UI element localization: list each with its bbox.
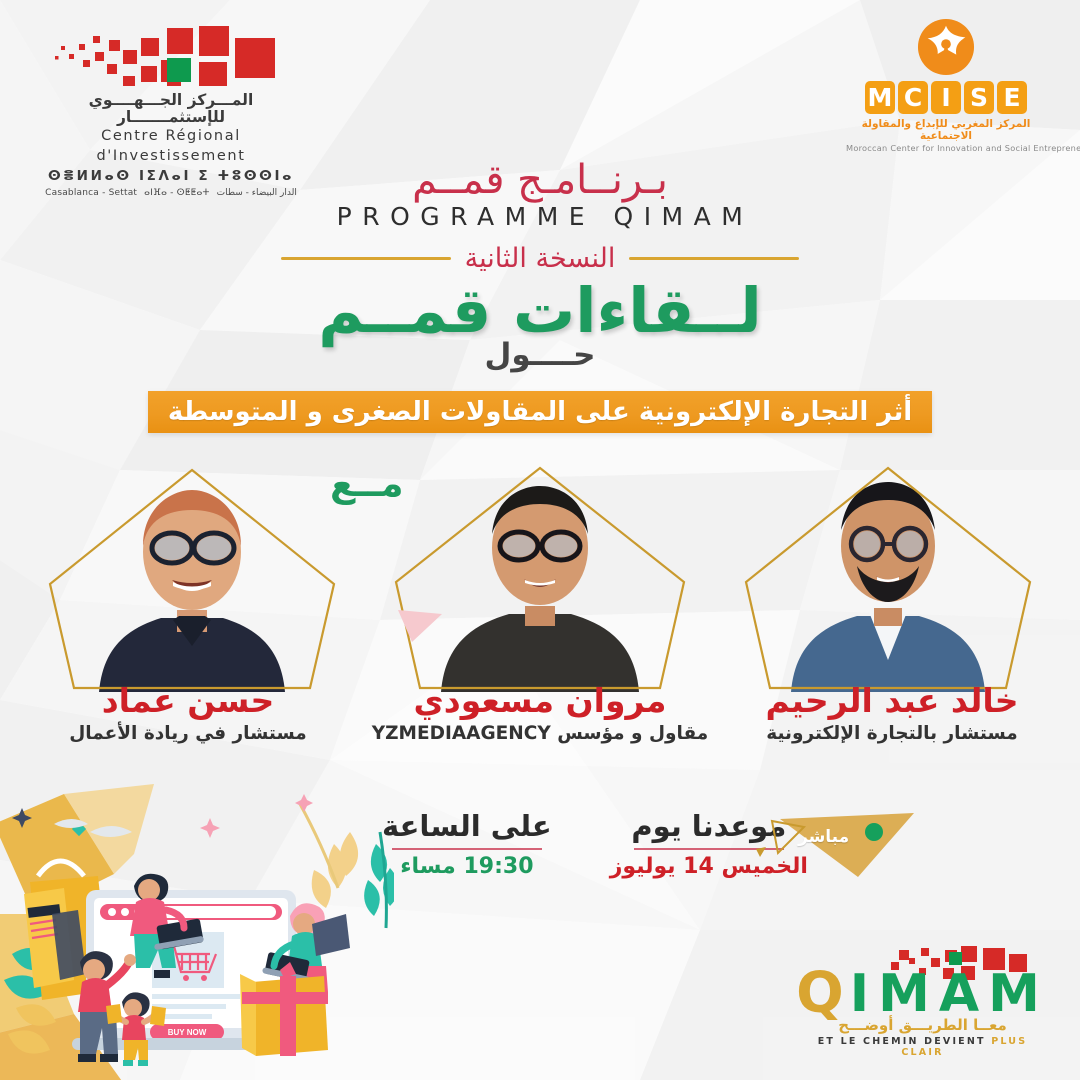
cri-pixel-squares-icon	[49, 24, 294, 86]
topic-banner: أثر التجارة الإلكترونية على المقاولات ال…	[148, 391, 932, 433]
mcise-arabic-tagline: المركز المغربي للإبداع والمقاولة الاجتما…	[846, 118, 1046, 142]
qimam-wordmark: Q IMAM	[795, 966, 1050, 1022]
cri-logo: المـــركز الجـــهــــوي للإستثمـــــــار…	[36, 24, 306, 198]
time-label: على الساعة	[382, 810, 552, 843]
qimam-french-main: ET LE CHEMIN DEVIENT	[818, 1036, 986, 1047]
qimam-letter-q: Q	[796, 966, 844, 1022]
speaker-card-1: حسن عماد مستشار في ريادة الأعمال	[18, 683, 358, 745]
edition-row: النسخة الثانية	[0, 245, 1080, 272]
cri-french-name: Centre Régional d'Investissement	[36, 127, 306, 166]
cri-region-line: Casablanca - Settat ⴰⵏⴼⴰ - ⵙⵟⵟⴰⵜ الدار ا…	[36, 188, 306, 198]
speaker-portrait-khalid	[773, 460, 1003, 692]
mcise-star-person-circle-icon	[917, 18, 975, 76]
mcise-letter-c: C	[898, 81, 928, 114]
speakers-photo-row	[0, 452, 1080, 692]
speaker-role-2: مقاول و مؤسس YZMEDIAAGENCY	[370, 723, 710, 745]
edition-rule-left	[281, 257, 451, 260]
mcise-logo: M C I S E المركز المغربي للإبداع والمقاو…	[846, 18, 1046, 153]
programme-french-title: PROGRAMME QIMAM	[0, 202, 1080, 231]
speaker-photo-3	[738, 452, 1038, 692]
cri-region-fr: Casablanca - Settat	[45, 188, 137, 198]
speaker-name-1: حسن عماد	[18, 683, 358, 719]
edition-label: النسخة الثانية	[465, 245, 616, 272]
main-headline: لــقاءات قمــم	[0, 278, 1080, 343]
mcise-english-tagline: Moroccan Center for Innovation and Socia…	[846, 143, 1046, 153]
cri-tifinagh-name: ⵙⴻⵍⵍⴰⵙ ⵏⵉⴷⴰⵏ ⵉ ⵜⵓⵙⵙⵏⴰ	[36, 168, 306, 186]
time-value: 19:30 مساء	[382, 854, 552, 880]
event-meta-row: على الساعة 19:30 مساء موعدنا يوم الخميس …	[0, 810, 1080, 880]
cri-region-ar: الدار البيضاء - سطات	[217, 188, 297, 198]
about-word: حــــول	[0, 337, 1080, 373]
topic-banner-text: أثر التجارة الإلكترونية على المقاولات ال…	[168, 399, 912, 425]
poster-canvas: المـــركز الجـــهــــوي للإستثمـــــــار…	[0, 0, 1080, 1080]
qimam-footer-logo: Q IMAM معــا الطريـــق أوضـــح ET LE CHE…	[795, 944, 1050, 1058]
time-underline	[392, 848, 542, 850]
mcise-letter-e: E	[997, 81, 1027, 114]
speaker-name-2: مروان مسعودي	[370, 683, 710, 719]
speaker-name-3: خالد عبد الرحيم	[722, 683, 1062, 719]
edition-rule-right	[629, 257, 799, 260]
event-time-block: على الساعة 19:30 مساء	[382, 810, 552, 880]
pink-triangle-accent	[398, 608, 442, 642]
speaker-portrait-hassan	[77, 460, 307, 692]
qimam-logo-top: Q IMAM	[795, 944, 1050, 1022]
speaker-role-1: مستشار في ريادة الأعمال	[18, 723, 358, 745]
cri-arabic-name: المـــركز الجـــهــــوي للإستثمـــــــار	[36, 92, 306, 126]
speaker-photo-2	[390, 452, 690, 692]
speaker-photo-1	[42, 452, 342, 692]
mcise-wordmark: M C I S E	[846, 81, 1046, 114]
speaker-portrait-marwan	[425, 460, 655, 692]
mcise-letter-m: M	[865, 81, 895, 114]
qimam-letters-imam: IMAM	[844, 968, 1049, 1020]
speaker-card-3: خالد عبد الرحيم مستشار بالتجارة الإلكترو…	[722, 683, 1062, 745]
speaker-card-2: مروان مسعودي مقاول و مؤسس YZMEDIAAGENCY	[370, 683, 710, 745]
mcise-letter-s: S	[964, 81, 994, 114]
live-badge-label: مباشر	[798, 827, 849, 847]
mcise-letter-i: I	[931, 81, 961, 114]
buy-now-label: BUY NOW	[168, 1028, 207, 1037]
speakers-intro-word: مــع	[330, 462, 403, 505]
live-badge: مباشر	[752, 805, 917, 885]
cri-region-tif: ⴰⵏⴼⴰ - ⵙⵟⵟⴰⵜ	[144, 188, 209, 198]
speakers-name-row: حسن عماد مستشار في ريادة الأعمال مروان م…	[0, 683, 1080, 745]
speaker-role-3: مستشار بالتجارة الإلكترونية	[722, 723, 1062, 745]
qimam-french-slogan: ET LE CHEMIN DEVIENT PLUS CLAIR	[795, 1036, 1050, 1058]
